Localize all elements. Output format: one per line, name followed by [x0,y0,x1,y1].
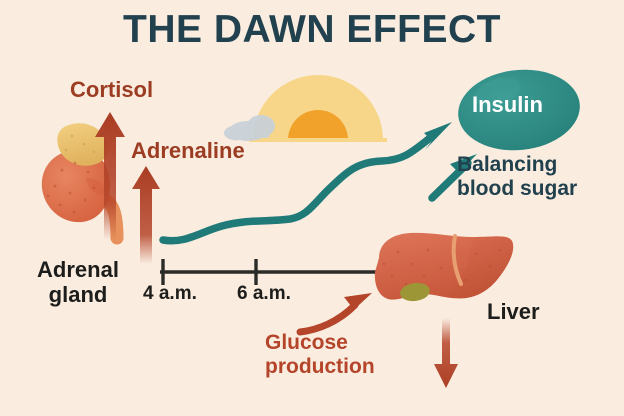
timeline-tick-label-6am: 6 a.m. [237,283,291,304]
label-cortisol: Cortisol [70,78,153,103]
label-balancing-blood-sugar: Balancing blood sugar [457,153,607,200]
timeline-axis [160,259,400,285]
label-insulin: Insulin [472,93,543,118]
adrenaline-up-arrow-icon [132,166,160,264]
label-liver: Liver [487,300,540,325]
dawn-effect-infographic: THE DAWN EFFECT Cortisol Adrenaline Adre… [0,0,624,416]
page-title: THE DAWN EFFECT [0,8,624,52]
label-adrenaline: Adrenaline [131,139,245,164]
glucose-curved-up-arrow-icon [300,293,372,332]
timeline-tick-label-4am: 4 a.m. [143,283,197,304]
liver-icon [375,233,513,303]
liver-down-arrow-icon [434,318,458,388]
label-glucose-production: Glucose production [265,331,405,378]
label-adrenal-gland: Adrenal gland [26,258,130,307]
